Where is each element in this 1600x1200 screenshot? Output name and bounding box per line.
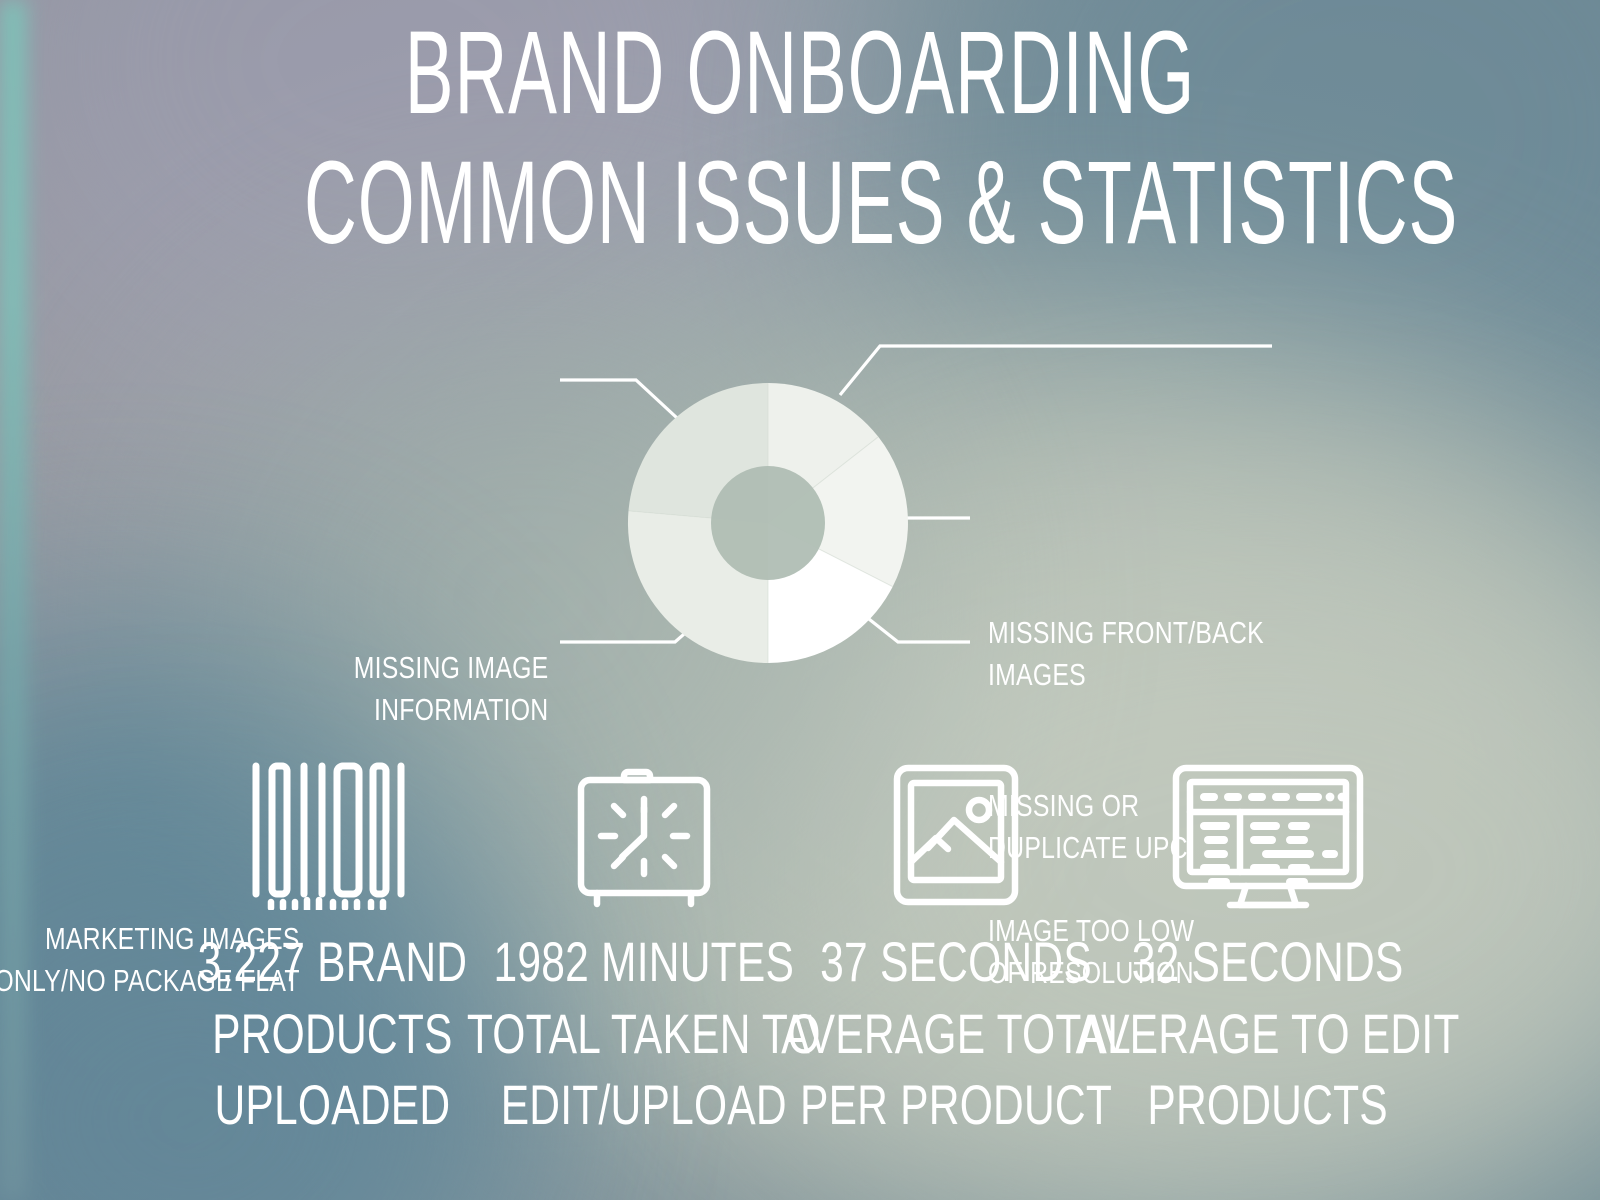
monitor-icon-glyph <box>1168 760 1368 910</box>
pie-label-line-2: INFORMATION <box>353 689 548 731</box>
infographic-canvas: BRAND ONBOARDING COMMON ISSUES & STATIST… <box>0 0 1600 1200</box>
monitor-sidebar-rows <box>1200 822 1230 886</box>
stat-label-minutes: 1982 MINUTES TOTAL TAKEN TO EDIT/UPLOAD <box>467 926 821 1141</box>
stat-line-2: AVERAGE TO EDIT <box>1076 998 1460 1070</box>
monitor-icon <box>1168 760 1368 910</box>
stat-line-3: EDIT/UPLOAD <box>467 1069 821 1141</box>
donut-chart-section: MISSING IMAGE INFORMATION MISSING FRONT/… <box>0 290 1600 730</box>
stat-line-3: UPLOADED <box>197 1069 467 1141</box>
stat-label-brand-products: 3,227 BRAND PRODUCTS UPLOADED <box>197 926 467 1141</box>
clock-icon <box>564 760 724 910</box>
title-line-2: COMMON ISSUES & STATISTICS <box>304 144 1296 262</box>
stat-card-seconds-to-edit: 32 SECONDS AVERAGE TO EDIT PRODUCTS <box>1118 760 1418 1141</box>
stat-line-1: 1982 MINUTES <box>467 926 821 998</box>
stat-line-2: PRODUCTS <box>197 998 467 1070</box>
stat-card-brand-products: 3,227 BRAND PRODUCTS UPLOADED <box>182 760 482 1141</box>
barcode-icon <box>247 760 417 910</box>
monitor-content-rows <box>1250 822 1338 886</box>
stat-line-3: PRODUCTS <box>1076 1069 1460 1141</box>
pie-label-front-back: MISSING FRONT/BACK IMAGES <box>988 612 1264 696</box>
pie-label-line-1: MISSING IMAGE <box>353 647 548 689</box>
stat-card-seconds-per-product: 37 SECONDS AVERAGE TOTAL PER PRODUCT <box>806 760 1106 1141</box>
pie-label-missing-image-info: MISSING IMAGE INFORMATION <box>353 647 548 731</box>
pie-label-line-2: IMAGES <box>988 654 1264 696</box>
donut-center-hub <box>711 466 825 580</box>
stat-line-1: 32 SECONDS <box>1076 926 1460 998</box>
stat-card-minutes: 1982 MINUTES TOTAL TAKEN TO EDIT/UPLOAD <box>494 760 794 1141</box>
stat-line-1: 3,227 BRAND <box>197 926 467 998</box>
statistics-row: 3,227 BRAND PRODUCTS UPLOADED <box>0 760 1600 1180</box>
clock-icon-glyph <box>564 760 724 910</box>
stat-label-seconds-to-edit: 32 SECONDS AVERAGE TO EDIT PRODUCTS <box>1076 926 1460 1141</box>
monitor-toolbar-items <box>1200 793 1346 802</box>
pie-label-line-1: MISSING FRONT/BACK <box>988 612 1264 654</box>
donut-chart <box>623 378 913 668</box>
image-icon <box>888 760 1024 910</box>
image-icon-glyph <box>888 760 1024 910</box>
barcode-icon-glyph <box>247 760 417 910</box>
title-line-1: BRAND ONBOARDING <box>304 14 1296 132</box>
stat-line-2: TOTAL TAKEN TO <box>467 998 821 1070</box>
page-title: BRAND ONBOARDING COMMON ISSUES & STATIST… <box>0 14 1600 262</box>
